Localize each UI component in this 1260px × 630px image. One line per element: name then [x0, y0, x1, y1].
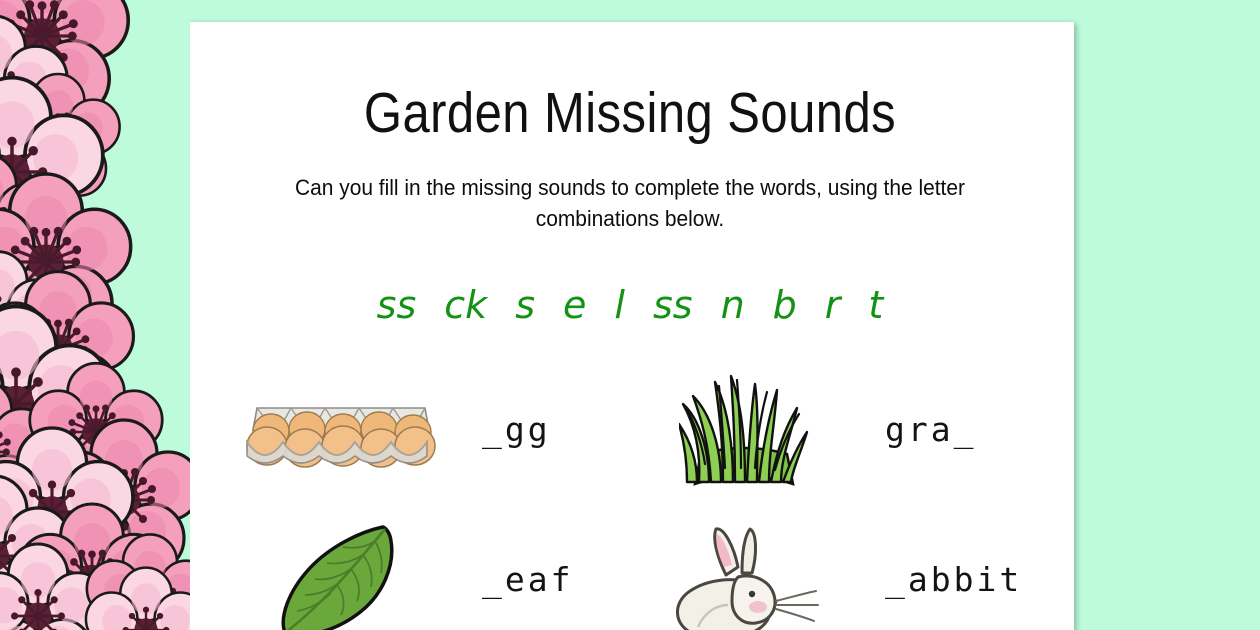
flower-border-decoration — [0, 0, 190, 630]
word-label-grass: gra_ — [885, 410, 976, 449]
grass-icon — [629, 370, 859, 490]
letter-chip-e[interactable]: e — [563, 286, 586, 324]
worksheet-canvas: Garden Missing Sounds Can you fill in th… — [0, 0, 1260, 630]
letter-chip-t[interactable]: t — [868, 286, 883, 324]
leaf-icon — [226, 520, 456, 630]
letter-chip-ss-1[interactable]: ss — [377, 286, 417, 324]
letter-bank: ss ck s e l ss n b r t — [186, 286, 1074, 324]
word-row-rabbit: _abbit — [629, 516, 1032, 630]
letter-chip-n[interactable]: n — [721, 286, 745, 324]
egg-carton-icon — [226, 370, 456, 490]
page-instructions: Can you fill in the missing sounds to co… — [253, 172, 1006, 234]
letter-chip-ss-2[interactable]: ss — [653, 286, 693, 324]
letter-chip-s[interactable]: s — [515, 286, 535, 324]
word-label-leaf: _eaf — [482, 560, 573, 599]
letter-chip-r[interactable]: r — [825, 286, 841, 324]
word-label-egg: _gg — [482, 410, 551, 449]
word-label-rabbit: _abbit — [885, 560, 1022, 599]
word-row-egg: _gg — [226, 366, 629, 494]
rabbit-icon — [629, 520, 859, 630]
worksheet-page: Garden Missing Sounds Can you fill in th… — [186, 22, 1074, 630]
word-row-grass: gra_ — [629, 366, 1032, 494]
letter-chip-ck[interactable]: ck — [444, 286, 487, 324]
letter-chip-l[interactable]: l — [614, 286, 625, 324]
word-row-leaf: _eaf — [226, 516, 629, 630]
word-rows-grid: _gg — [186, 366, 1074, 630]
letter-chip-b[interactable]: b — [773, 286, 797, 324]
page-title: Garden Missing Sounds — [248, 84, 1012, 144]
